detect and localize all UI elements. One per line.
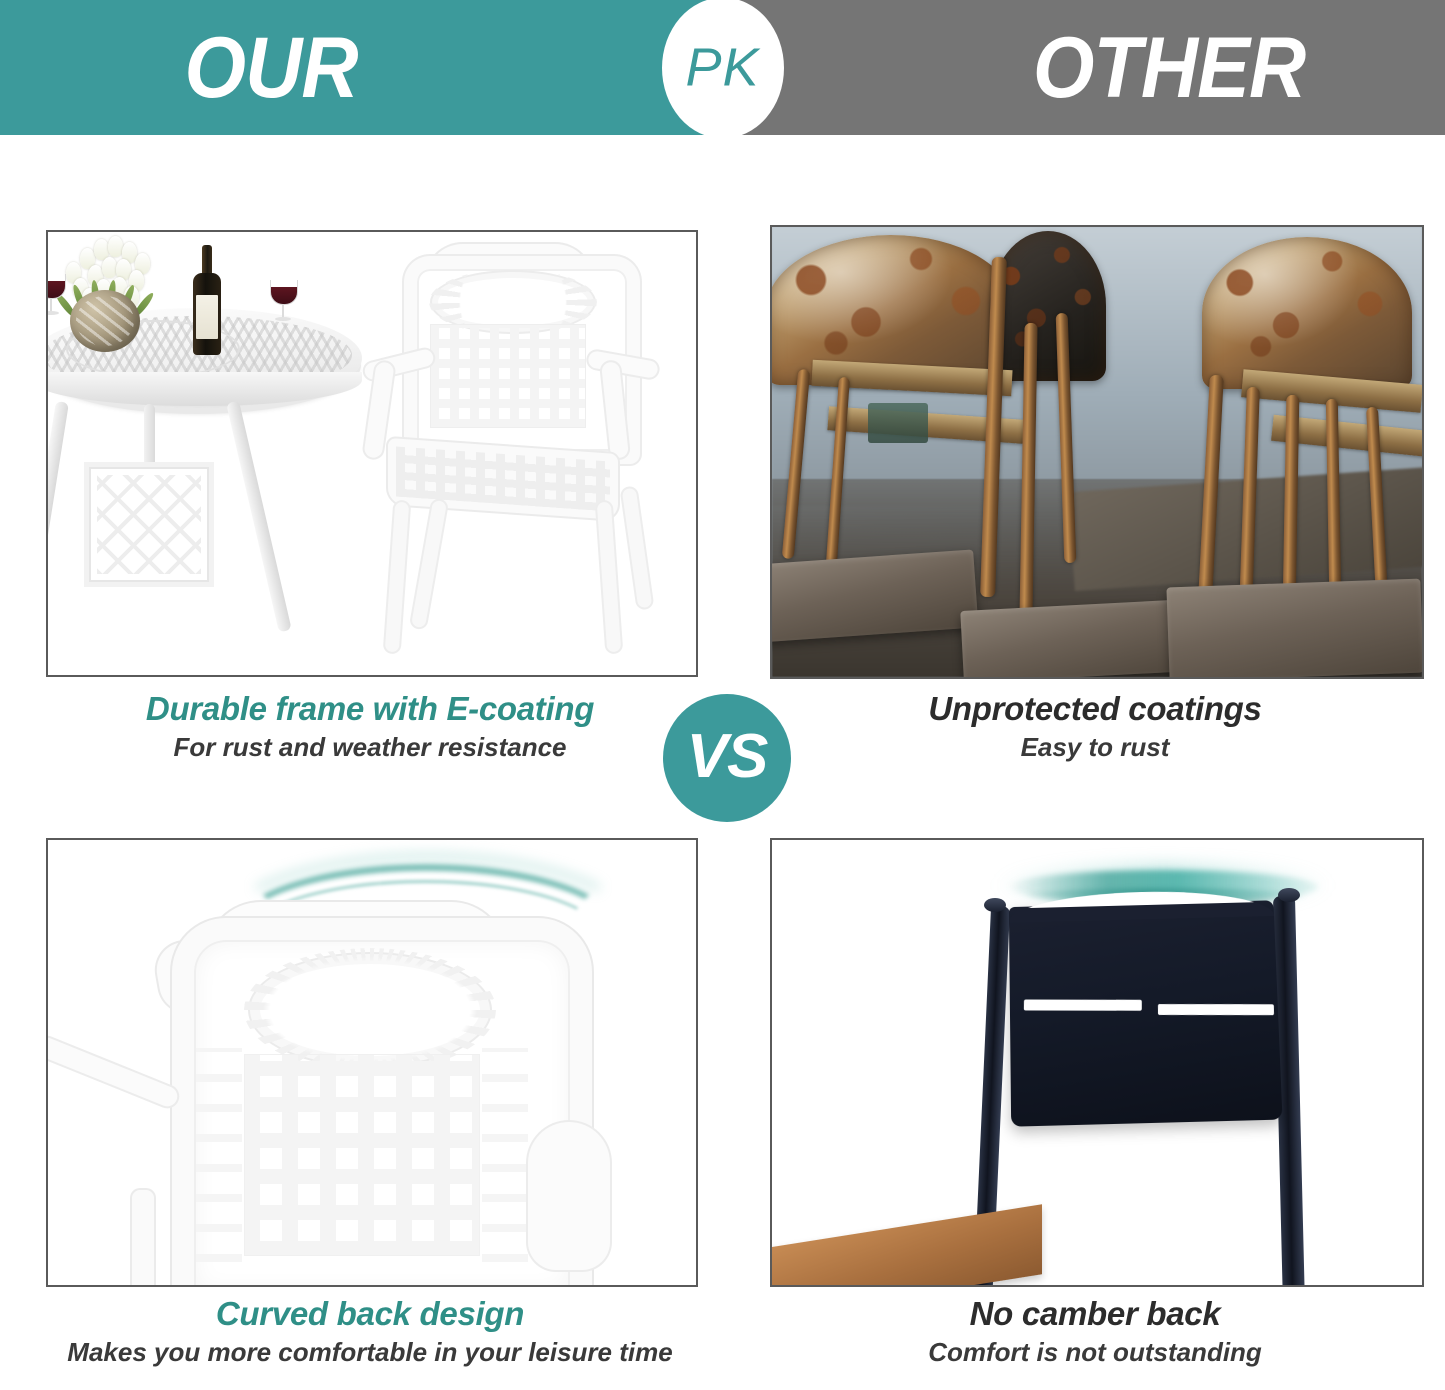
pk-badge: PK [662, 0, 784, 138]
chair-post-cap-right [1278, 888, 1300, 902]
rusty-chair-back-left [772, 235, 1016, 385]
photo-frame-other-flat-back [770, 838, 1424, 1287]
rusty-chair-seat-right [1166, 579, 1422, 677]
caption-our-curved-back-subtitle: Makes you more comfortable in your leisu… [46, 1338, 694, 1368]
photo-frame-our-curved-back [46, 838, 698, 1287]
chair-leg-front-right [597, 502, 621, 653]
rusty-chair-seat-left [772, 549, 978, 642]
rusty-chairs-photo [772, 227, 1422, 677]
header-other-label: OTHER [1033, 25, 1305, 111]
vs-badge: VS [663, 694, 791, 822]
chair-leg-front-left [385, 502, 409, 653]
vs-badge-label: VS [687, 721, 768, 792]
caption-our-curved-back-title: Curved back design [46, 1295, 694, 1333]
header-our-label: OUR [185, 25, 358, 111]
caption-other-coating: Unprotected coatings Easy to rust [770, 690, 1420, 763]
chair-back-lattice [244, 1054, 480, 1256]
chair-back-medallion [250, 954, 490, 1066]
chair-right-arm-curl [528, 1122, 610, 1270]
wine-glass-foot [275, 317, 291, 321]
caption-other-coating-title: Unprotected coatings [770, 690, 1420, 728]
caption-our-coating-title: Durable frame with E-coating [46, 690, 694, 728]
chair-back-scrollwork-right [482, 1048, 528, 1262]
flat-back-illustration [772, 840, 1422, 1285]
flower-vase [70, 290, 140, 352]
photo-frame-other-coating [770, 225, 1424, 679]
table-base-lattice-panel [84, 462, 214, 587]
caption-other-flat-back: No camber back Comfort is not outstandin… [770, 1295, 1420, 1368]
wine-glass-stem [282, 304, 284, 318]
wine-glass-stem [50, 298, 52, 312]
chair-back-scrollwork-left [196, 1048, 242, 1262]
curved-back-illustration [48, 840, 696, 1285]
chair-back-lattice [430, 324, 586, 428]
comparison-header: OUR OTHER PK [0, 0, 1445, 135]
wine-glass-foot [46, 311, 59, 315]
wine-bottle-label [196, 295, 218, 339]
chair-leg-back-left [411, 500, 447, 628]
white-patio-armchair [348, 250, 678, 670]
chair-back-post [132, 1190, 154, 1285]
backrest-slot-right [1158, 1004, 1274, 1015]
photo-frame-our-coating [46, 230, 698, 677]
header-our-side: OUR [0, 0, 723, 135]
table-leg-right [226, 401, 292, 633]
rusty-chair-seat-middle [960, 599, 1193, 677]
caption-other-coating-subtitle: Easy to rust [770, 733, 1420, 763]
caption-other-flat-back-title: No camber back [770, 1295, 1420, 1333]
caption-our-coating: Durable frame with E-coating For rust an… [46, 690, 694, 763]
chair-medallion-ornament [432, 272, 594, 332]
caption-our-coating-subtitle: For rust and weather resistance [46, 733, 694, 763]
chair-leg-back-right [622, 488, 653, 609]
backrest-slot-left [1024, 1000, 1142, 1011]
rusty-chair-back-right [1202, 237, 1412, 389]
wooden-chair-seat [772, 1204, 1042, 1285]
rusty-chair-back-left-behind [990, 231, 1106, 381]
pk-badge-label: PK [685, 37, 759, 99]
wine-glass-right [270, 280, 296, 324]
caption-our-curved-back: Curved back design Makes you more comfor… [46, 1295, 694, 1368]
wine-glass-bowl [270, 280, 298, 305]
wine-glass-left [46, 274, 64, 318]
caption-other-flat-back-subtitle: Comfort is not outstanding [770, 1338, 1420, 1368]
wine-glass-bowl [46, 274, 66, 299]
bistro-set-illustration [48, 232, 696, 675]
table-leg-left [46, 401, 69, 635]
table-rim [46, 372, 362, 406]
header-other-side: OTHER [723, 0, 1445, 135]
rusty-chair-green-patch-left [868, 403, 928, 443]
chair-post-cap-left [984, 898, 1006, 912]
wine-bottle [193, 245, 221, 355]
white-chair-back-closeup [158, 918, 568, 1285]
dark-flat-backrest [1009, 900, 1283, 1126]
